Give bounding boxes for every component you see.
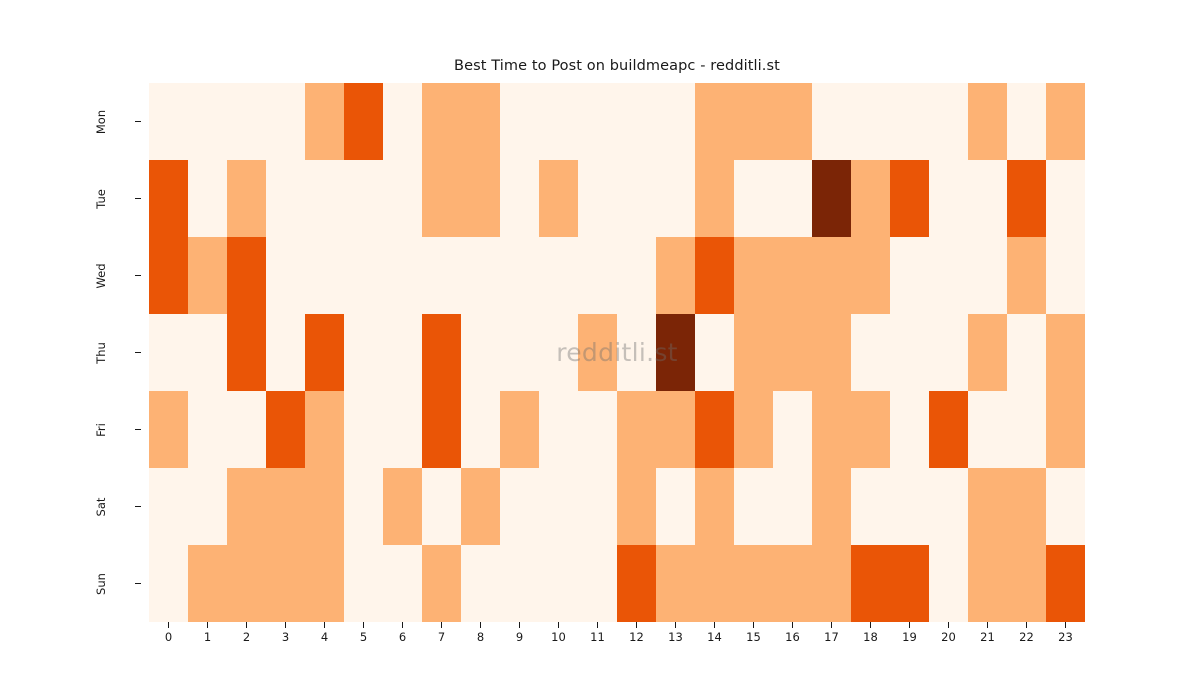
heatmap-cell	[305, 545, 344, 622]
heatmap-cell	[266, 83, 305, 160]
y-tick-mark	[135, 352, 141, 353]
x-tick-mark	[909, 622, 910, 628]
x-tick-label: 13	[656, 630, 695, 644]
heatmap-cell	[656, 545, 695, 622]
heatmap-cell	[734, 237, 773, 314]
heatmap-cell	[578, 545, 617, 622]
heatmap-cell	[266, 314, 305, 391]
heatmap-cell	[1046, 237, 1085, 314]
x-tick-mark	[597, 622, 598, 628]
heatmap-cell	[695, 468, 734, 545]
heatmap-cell	[695, 391, 734, 468]
y-tick-mark	[135, 429, 141, 430]
heatmap-cell	[890, 237, 929, 314]
x-tick-label: 9	[500, 630, 539, 644]
heatmap-row	[149, 391, 1085, 468]
heatmap-cell	[344, 545, 383, 622]
heatmap-cell	[266, 237, 305, 314]
x-tick-mark	[1026, 622, 1027, 628]
x-tick-label: 7	[422, 630, 461, 644]
heatmap-cell	[734, 83, 773, 160]
heatmap-cell	[188, 545, 227, 622]
heatmap-cell	[500, 160, 539, 237]
heatmap-cell	[461, 160, 500, 237]
heatmap-cell	[773, 314, 812, 391]
heatmap-cell	[929, 314, 968, 391]
heatmap-cell	[812, 237, 851, 314]
y-tick-label: Thu	[94, 323, 108, 383]
x-tick-label: 14	[695, 630, 734, 644]
heatmap-cell	[929, 391, 968, 468]
x-tick-label: 21	[968, 630, 1007, 644]
heatmap-cell	[188, 391, 227, 468]
x-tick-label: 11	[578, 630, 617, 644]
heatmap-cell	[422, 314, 461, 391]
y-tick-label: Wed	[94, 246, 108, 306]
heatmap-cell	[656, 391, 695, 468]
x-tick-label: 2	[227, 630, 266, 644]
y-tick-label: Sat	[94, 477, 108, 537]
heatmap-cell	[1046, 391, 1085, 468]
heatmap-cell	[617, 391, 656, 468]
heatmap-cell	[383, 237, 422, 314]
heatmap-cell	[344, 237, 383, 314]
heatmap-cell	[968, 468, 1007, 545]
heatmap-row	[149, 545, 1085, 622]
heatmap-cell	[149, 314, 188, 391]
heatmap-cell	[968, 314, 1007, 391]
heatmap-cell	[149, 237, 188, 314]
heatmap-cell	[851, 160, 890, 237]
heatmap-cell	[812, 314, 851, 391]
x-tick-mark	[402, 622, 403, 628]
heatmap-cell	[578, 391, 617, 468]
heatmap-cell	[734, 545, 773, 622]
x-tick-mark	[285, 622, 286, 628]
heatmap-cell	[851, 314, 890, 391]
heatmap-cell	[461, 314, 500, 391]
heatmap-cell	[539, 391, 578, 468]
heatmap-cell	[461, 237, 500, 314]
heatmap-cell	[383, 314, 422, 391]
y-tick-label: Tue	[94, 169, 108, 229]
x-tick-label: 15	[734, 630, 773, 644]
heatmap-cell	[734, 391, 773, 468]
heatmap-cell	[383, 545, 422, 622]
heatmap-cell	[812, 545, 851, 622]
heatmap-cell	[539, 314, 578, 391]
heatmap-cell	[773, 468, 812, 545]
heatmap-cell	[578, 468, 617, 545]
x-tick-mark	[480, 622, 481, 628]
heatmap-cell	[578, 237, 617, 314]
heatmap-cell	[305, 160, 344, 237]
heatmap-cell	[149, 545, 188, 622]
heatmap-cell	[344, 83, 383, 160]
heatmap-cell	[890, 314, 929, 391]
heatmap-cell	[383, 83, 422, 160]
x-tick-mark	[324, 622, 325, 628]
heatmap-cell	[344, 468, 383, 545]
x-tick-label: 8	[461, 630, 500, 644]
heatmap-cell	[968, 545, 1007, 622]
heatmap-cell	[890, 160, 929, 237]
heatmap-cell	[461, 83, 500, 160]
heatmap-cell	[383, 468, 422, 545]
heatmap-cell	[149, 83, 188, 160]
heatmap-cell	[890, 545, 929, 622]
heatmap-cell	[695, 545, 734, 622]
x-tick-mark	[948, 622, 949, 628]
heatmap-cell	[500, 545, 539, 622]
y-tick-label: Mon	[94, 92, 108, 152]
heatmap-cell	[968, 237, 1007, 314]
heatmap-cell	[1046, 545, 1085, 622]
heatmap-cell	[695, 160, 734, 237]
heatmap-cell	[500, 468, 539, 545]
heatmap-cell	[539, 468, 578, 545]
heatmap-cell	[656, 160, 695, 237]
x-tick-mark	[363, 622, 364, 628]
heatmap-cell	[1007, 391, 1046, 468]
x-tick-label: 17	[812, 630, 851, 644]
heatmap-cell	[188, 468, 227, 545]
x-tick-mark	[246, 622, 247, 628]
heatmap-cell	[149, 391, 188, 468]
x-axis: 01234567891011121314151617181920212223	[149, 622, 1085, 662]
x-tick-label: 23	[1046, 630, 1085, 644]
y-axis: MonTueWedThuFriSatSun	[0, 83, 149, 622]
heatmap-cell	[1046, 83, 1085, 160]
heatmap-cell	[617, 160, 656, 237]
heatmap-cell	[266, 160, 305, 237]
heatmap-cell	[890, 391, 929, 468]
heatmap-cell	[812, 83, 851, 160]
heatmap-cell	[344, 314, 383, 391]
heatmap-cell	[929, 83, 968, 160]
x-tick-mark	[207, 622, 208, 628]
x-tick-mark	[831, 622, 832, 628]
heatmap-cell	[773, 83, 812, 160]
heatmap-cell	[734, 468, 773, 545]
heatmap-cell	[773, 237, 812, 314]
heatmap-row	[149, 83, 1085, 160]
y-tick-mark	[135, 506, 141, 507]
heatmap-cell	[773, 545, 812, 622]
heatmap-cell	[461, 545, 500, 622]
heatmap-cell	[695, 83, 734, 160]
y-tick-mark	[135, 198, 141, 199]
x-tick-mark	[870, 622, 871, 628]
heatmap-cell	[695, 237, 734, 314]
x-tick-mark	[558, 622, 559, 628]
x-tick-label: 4	[305, 630, 344, 644]
x-tick-label: 18	[851, 630, 890, 644]
heatmap-row	[149, 468, 1085, 545]
heatmap-cell	[227, 160, 266, 237]
heatmap-cell	[461, 468, 500, 545]
heatmap-cell	[851, 237, 890, 314]
x-tick-mark	[168, 622, 169, 628]
heatmap-cell	[851, 545, 890, 622]
x-tick-mark	[636, 622, 637, 628]
heatmap-cell	[188, 314, 227, 391]
heatmap-cell	[305, 468, 344, 545]
y-tick-mark	[135, 121, 141, 122]
heatmap-cell	[500, 237, 539, 314]
heatmap-cell	[344, 160, 383, 237]
heatmap-cell	[1007, 545, 1046, 622]
heatmap-cell	[227, 237, 266, 314]
x-tick-mark	[753, 622, 754, 628]
x-tick-mark	[792, 622, 793, 628]
x-tick-label: 0	[149, 630, 188, 644]
heatmap-cell	[929, 160, 968, 237]
heatmap-cell	[227, 545, 266, 622]
heatmap-cell	[656, 468, 695, 545]
heatmap-cell	[851, 468, 890, 545]
heatmap-cell	[968, 391, 1007, 468]
x-tick-mark	[675, 622, 676, 628]
x-tick-mark	[441, 622, 442, 628]
heatmap-plot-area: redditli.st	[149, 83, 1085, 622]
heatmap-cell	[890, 83, 929, 160]
heatmap-cell	[149, 468, 188, 545]
heatmap-cell	[305, 237, 344, 314]
heatmap-cell	[617, 237, 656, 314]
heatmap-cell	[539, 545, 578, 622]
heatmap-cell	[539, 237, 578, 314]
heatmap-cell	[539, 83, 578, 160]
heatmap-cell	[968, 83, 1007, 160]
x-tick-mark	[1065, 622, 1066, 628]
heatmap-cell	[305, 391, 344, 468]
heatmap-cell	[1046, 314, 1085, 391]
heatmap-cell	[1007, 314, 1046, 391]
x-tick-label: 6	[383, 630, 422, 644]
heatmap-figure: Best Time to Post on buildmeapc - reddit…	[0, 0, 1200, 700]
heatmap-cell	[149, 160, 188, 237]
heatmap-cell	[734, 160, 773, 237]
heatmap-cell	[383, 160, 422, 237]
x-tick-label: 16	[773, 630, 812, 644]
heatmap-cell	[812, 160, 851, 237]
x-tick-label: 22	[1007, 630, 1046, 644]
heatmap-cell	[266, 545, 305, 622]
heatmap-cell	[422, 83, 461, 160]
heatmap-cell	[1007, 83, 1046, 160]
heatmap-cell	[1007, 160, 1046, 237]
heatmap-row	[149, 237, 1085, 314]
heatmap-cell	[773, 160, 812, 237]
x-tick-label: 5	[344, 630, 383, 644]
heatmap-cell	[851, 391, 890, 468]
heatmap-cell	[1046, 160, 1085, 237]
heatmap-cell	[1007, 237, 1046, 314]
y-tick-mark	[135, 583, 141, 584]
heatmap-cell	[539, 160, 578, 237]
heatmap-cell	[188, 83, 227, 160]
heatmap-cell	[851, 83, 890, 160]
heatmap-cell	[500, 391, 539, 468]
chart-title: Best Time to Post on buildmeapc - reddit…	[149, 58, 1085, 74]
heatmap-cell	[617, 83, 656, 160]
heatmap-cell	[344, 391, 383, 468]
heatmap-cell	[305, 83, 344, 160]
heatmap-cell	[1046, 468, 1085, 545]
heatmap-cell	[578, 160, 617, 237]
heatmap-row	[149, 314, 1085, 391]
heatmap-cell	[929, 545, 968, 622]
x-tick-label: 12	[617, 630, 656, 644]
heatmap-cell	[422, 545, 461, 622]
x-tick-mark	[519, 622, 520, 628]
heatmap-cell	[266, 468, 305, 545]
x-tick-label: 3	[266, 630, 305, 644]
x-tick-label: 19	[890, 630, 929, 644]
heatmap-cell	[929, 237, 968, 314]
x-tick-mark	[987, 622, 988, 628]
heatmap-cell	[227, 468, 266, 545]
heatmap-cell	[227, 83, 266, 160]
heatmap-cell	[305, 314, 344, 391]
heatmap-cell	[656, 83, 695, 160]
heatmap-cell	[695, 314, 734, 391]
x-tick-mark	[714, 622, 715, 628]
heatmap-cell	[968, 160, 1007, 237]
heatmap-cell	[617, 468, 656, 545]
heatmap-cell	[578, 314, 617, 391]
heatmap-cell	[656, 237, 695, 314]
heatmap-cell	[617, 545, 656, 622]
heatmap-cell	[656, 314, 695, 391]
heatmap-cell	[188, 237, 227, 314]
heatmap-cell	[500, 83, 539, 160]
heatmap-cell	[461, 391, 500, 468]
heatmap-cell	[227, 314, 266, 391]
heatmap-cell	[773, 391, 812, 468]
heatmap-cell	[617, 314, 656, 391]
y-tick-label: Fri	[94, 400, 108, 460]
heatmap-cell	[500, 314, 539, 391]
y-tick-label: Sun	[94, 554, 108, 614]
x-tick-label: 10	[539, 630, 578, 644]
heatmap-cell	[266, 391, 305, 468]
heatmap-cell	[812, 391, 851, 468]
heatmap-cell	[188, 160, 227, 237]
heatmap-cell	[383, 391, 422, 468]
heatmap-cell	[422, 391, 461, 468]
heatmap-cell	[890, 468, 929, 545]
x-tick-label: 1	[188, 630, 227, 644]
heatmap-cell	[1007, 468, 1046, 545]
y-tick-mark	[135, 275, 141, 276]
x-tick-label: 20	[929, 630, 968, 644]
heatmap-cell	[734, 314, 773, 391]
heatmap-cell	[929, 468, 968, 545]
heatmap-cell	[422, 468, 461, 545]
heatmap-cell	[422, 160, 461, 237]
heatmap-cell	[422, 237, 461, 314]
heatmap-cell	[227, 391, 266, 468]
heatmap-row	[149, 160, 1085, 237]
heatmap-cell	[578, 83, 617, 160]
heatmap-cell	[812, 468, 851, 545]
